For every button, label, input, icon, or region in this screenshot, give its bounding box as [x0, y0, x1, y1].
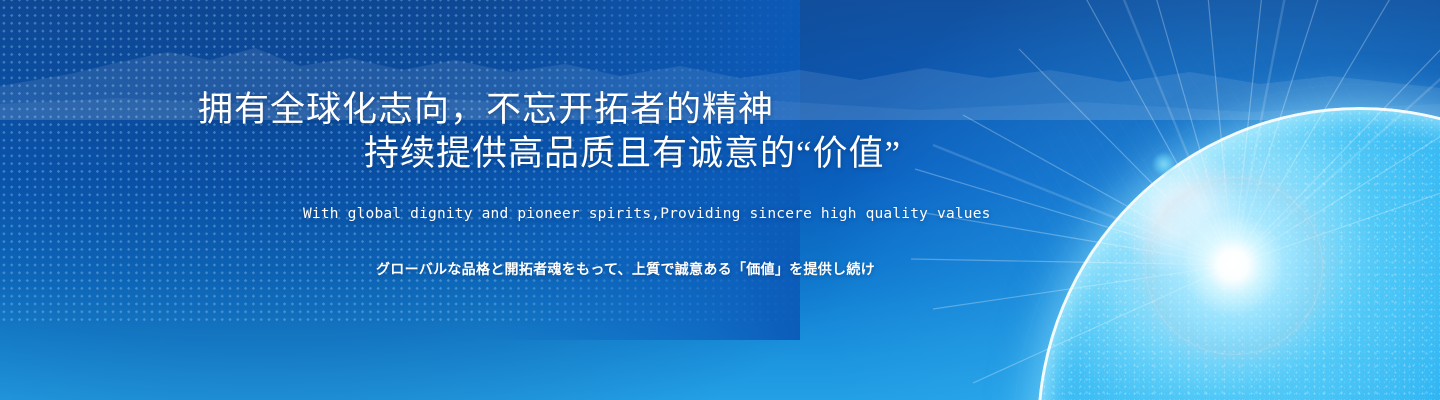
headline-cn-line2: 持续提供高品质且有诚意的“价值” — [364, 136, 901, 171]
subtitle-english: With global dignity and pioneer spirits,… — [303, 206, 991, 222]
sun-core-glow — [1118, 150, 1348, 380]
planet-surface-texture — [1040, 110, 1440, 400]
lens-flare-orb-icon — [1152, 152, 1176, 176]
headline-block: 拥有全球化志向，不忘开拓者的精神 持续提供高品质且有诚意的“价值” With g… — [0, 0, 1060, 400]
headline-cn-line1: 拥有全球化志向，不忘开拓者的精神 — [198, 92, 774, 127]
hero-banner: 拥有全球化志向，不忘开拓者的精神 持续提供高品质且有诚意的“价值” With g… — [0, 0, 1440, 400]
sun-halo-ring — [1145, 177, 1323, 355]
subtitle-japanese: グローバルな品格と開拓者魂をもって、上質で誠意ある「価値」を提供し続け — [376, 259, 875, 279]
planet-atmosphere-glow — [1014, 84, 1440, 400]
planet-body — [1040, 110, 1440, 400]
planet-earth-limb — [1040, 110, 1440, 400]
planet-bright-rim — [1037, 107, 1440, 400]
